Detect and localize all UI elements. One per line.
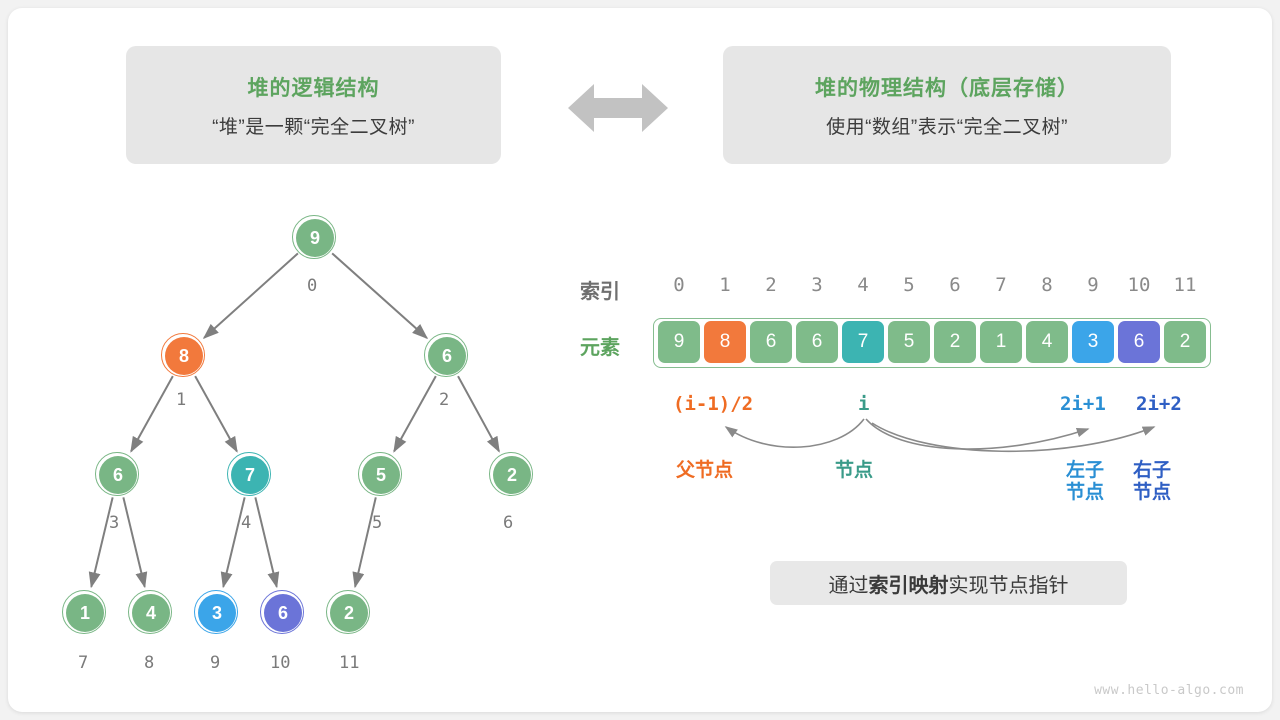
tree-edge <box>355 497 376 586</box>
tree-node-index: 7 <box>78 653 88 673</box>
tree-node: 4 <box>132 594 170 632</box>
diagram-card: 堆的逻辑结构 “堆”是一颗“完全二叉树” 堆的物理结构（底层存储） 使用“数组”… <box>8 8 1272 712</box>
right-child-role-label: 右子节点 <box>1133 460 1171 504</box>
array-index-cell: 0 <box>656 274 702 296</box>
physical-structure-subtitle: 使用“数组”表示“完全二叉树” <box>826 112 1068 139</box>
tree-edge <box>458 376 499 451</box>
tree-node: 9 <box>296 219 334 257</box>
tree-node-value: 7 <box>245 465 255 486</box>
physical-structure-title: 堆的物理结构（底层存储） <box>815 72 1079 102</box>
tree-node-index: 5 <box>372 513 382 533</box>
array-element-cell: 3 <box>1072 321 1114 363</box>
tree-node-value: 1 <box>80 603 90 624</box>
array-index-cell: 1 <box>702 274 748 296</box>
node-role-label: 节点 <box>835 460 873 482</box>
tree-node-index: 11 <box>339 653 359 673</box>
tree-node: 6 <box>99 456 137 494</box>
tree-node-index: 2 <box>439 390 449 410</box>
caption-box: 通过索引映射实现节点指针 <box>770 561 1127 605</box>
logical-structure-subtitle: “堆”是一颗“完全二叉树” <box>212 112 415 139</box>
array-element-cell: 8 <box>704 321 746 363</box>
tree-node-value: 3 <box>212 603 222 624</box>
array-element-cell: 2 <box>934 321 976 363</box>
tree-node-index: 9 <box>210 653 220 673</box>
left-child-formula: 2i+1 <box>1060 393 1106 415</box>
array-index-cell: 2 <box>748 274 794 296</box>
tree-node-value: 8 <box>179 346 189 367</box>
tree-edge <box>204 253 298 338</box>
tree-edge <box>123 497 144 586</box>
binary-tree-diagram: 986675214362 01234567891011 <box>8 188 588 688</box>
node-formula: i <box>858 393 869 415</box>
caption-suffix: 实现节点指针 <box>949 569 1069 598</box>
tree-edge <box>91 497 112 586</box>
tree-node-value: 6 <box>278 603 288 624</box>
array-index-cell: 5 <box>886 274 932 296</box>
array-container: 986675214362 <box>653 318 1211 368</box>
tree-node: 6 <box>264 594 302 632</box>
array-index-cell: 8 <box>1024 274 1070 296</box>
array-element-cell: 4 <box>1026 321 1068 363</box>
caption-emphasis: 索引映射 <box>869 569 949 598</box>
array-index-cell: 6 <box>932 274 978 296</box>
index-row-label: 索引 <box>580 275 620 304</box>
physical-structure-box: 堆的物理结构（底层存储） 使用“数组”表示“完全二叉树” <box>723 46 1171 164</box>
array-element-cell: 6 <box>1118 321 1160 363</box>
array-index-cell: 10 <box>1116 274 1162 296</box>
array-index-cell: 11 <box>1162 274 1208 296</box>
double-arrow-icon <box>568 80 668 136</box>
tree-node: 6 <box>428 337 466 375</box>
left-child-role-label: 左子节点 <box>1066 460 1104 504</box>
tree-node-value: 9 <box>310 228 320 249</box>
tree-node: 1 <box>66 594 104 632</box>
tree-node: 7 <box>231 456 269 494</box>
tree-node-index: 10 <box>270 653 290 673</box>
logical-structure-title: 堆的逻辑结构 <box>248 72 380 102</box>
tree-node-index: 4 <box>241 513 251 533</box>
tree-edge <box>255 497 276 586</box>
tree-node: 3 <box>198 594 236 632</box>
array-element-cell: 5 <box>888 321 930 363</box>
tree-node-index: 8 <box>144 653 154 673</box>
element-row-label: 元素 <box>580 331 620 360</box>
tree-node-index: 0 <box>307 276 317 296</box>
tree-edge <box>195 376 237 451</box>
array-index-row: 01234567891011 <box>656 274 1208 296</box>
tree-node-index: 3 <box>109 513 119 533</box>
array-element-cell: 7 <box>842 321 884 363</box>
logical-structure-box: 堆的逻辑结构 “堆”是一颗“完全二叉树” <box>126 46 501 164</box>
caption-prefix: 通过 <box>829 569 869 598</box>
tree-node-value: 6 <box>113 465 123 486</box>
parent-role-label: 父节点 <box>676 460 733 482</box>
array-index-cell: 9 <box>1070 274 1116 296</box>
tree-node-value: 2 <box>507 465 517 486</box>
array-element-cell: 6 <box>796 321 838 363</box>
array-index-cell: 3 <box>794 274 840 296</box>
tree-node-index: 1 <box>176 390 186 410</box>
tree-edge <box>223 497 244 586</box>
array-element-cell: 2 <box>1164 321 1206 363</box>
tree-node-value: 4 <box>146 603 156 624</box>
tree-node: 5 <box>362 456 400 494</box>
tree-edge <box>394 376 436 451</box>
tree-node-value: 2 <box>344 603 354 624</box>
array-element-cell: 6 <box>750 321 792 363</box>
tree-node-index: 6 <box>503 513 513 533</box>
watermark: www.hello-algo.com <box>1094 683 1244 698</box>
array-element-cell: 9 <box>658 321 700 363</box>
tree-edge <box>131 376 173 451</box>
array-index-cell: 4 <box>840 274 886 296</box>
tree-node-value: 6 <box>442 346 452 367</box>
tree-node: 2 <box>493 456 531 494</box>
tree-node: 8 <box>165 337 203 375</box>
right-child-formula: 2i+2 <box>1136 393 1182 415</box>
tree-node-value: 5 <box>376 465 386 486</box>
parent-formula: (i-1)/2 <box>673 393 753 415</box>
array-element-cell: 1 <box>980 321 1022 363</box>
array-index-cell: 7 <box>978 274 1024 296</box>
tree-node: 2 <box>330 594 368 632</box>
tree-edge <box>332 253 427 338</box>
